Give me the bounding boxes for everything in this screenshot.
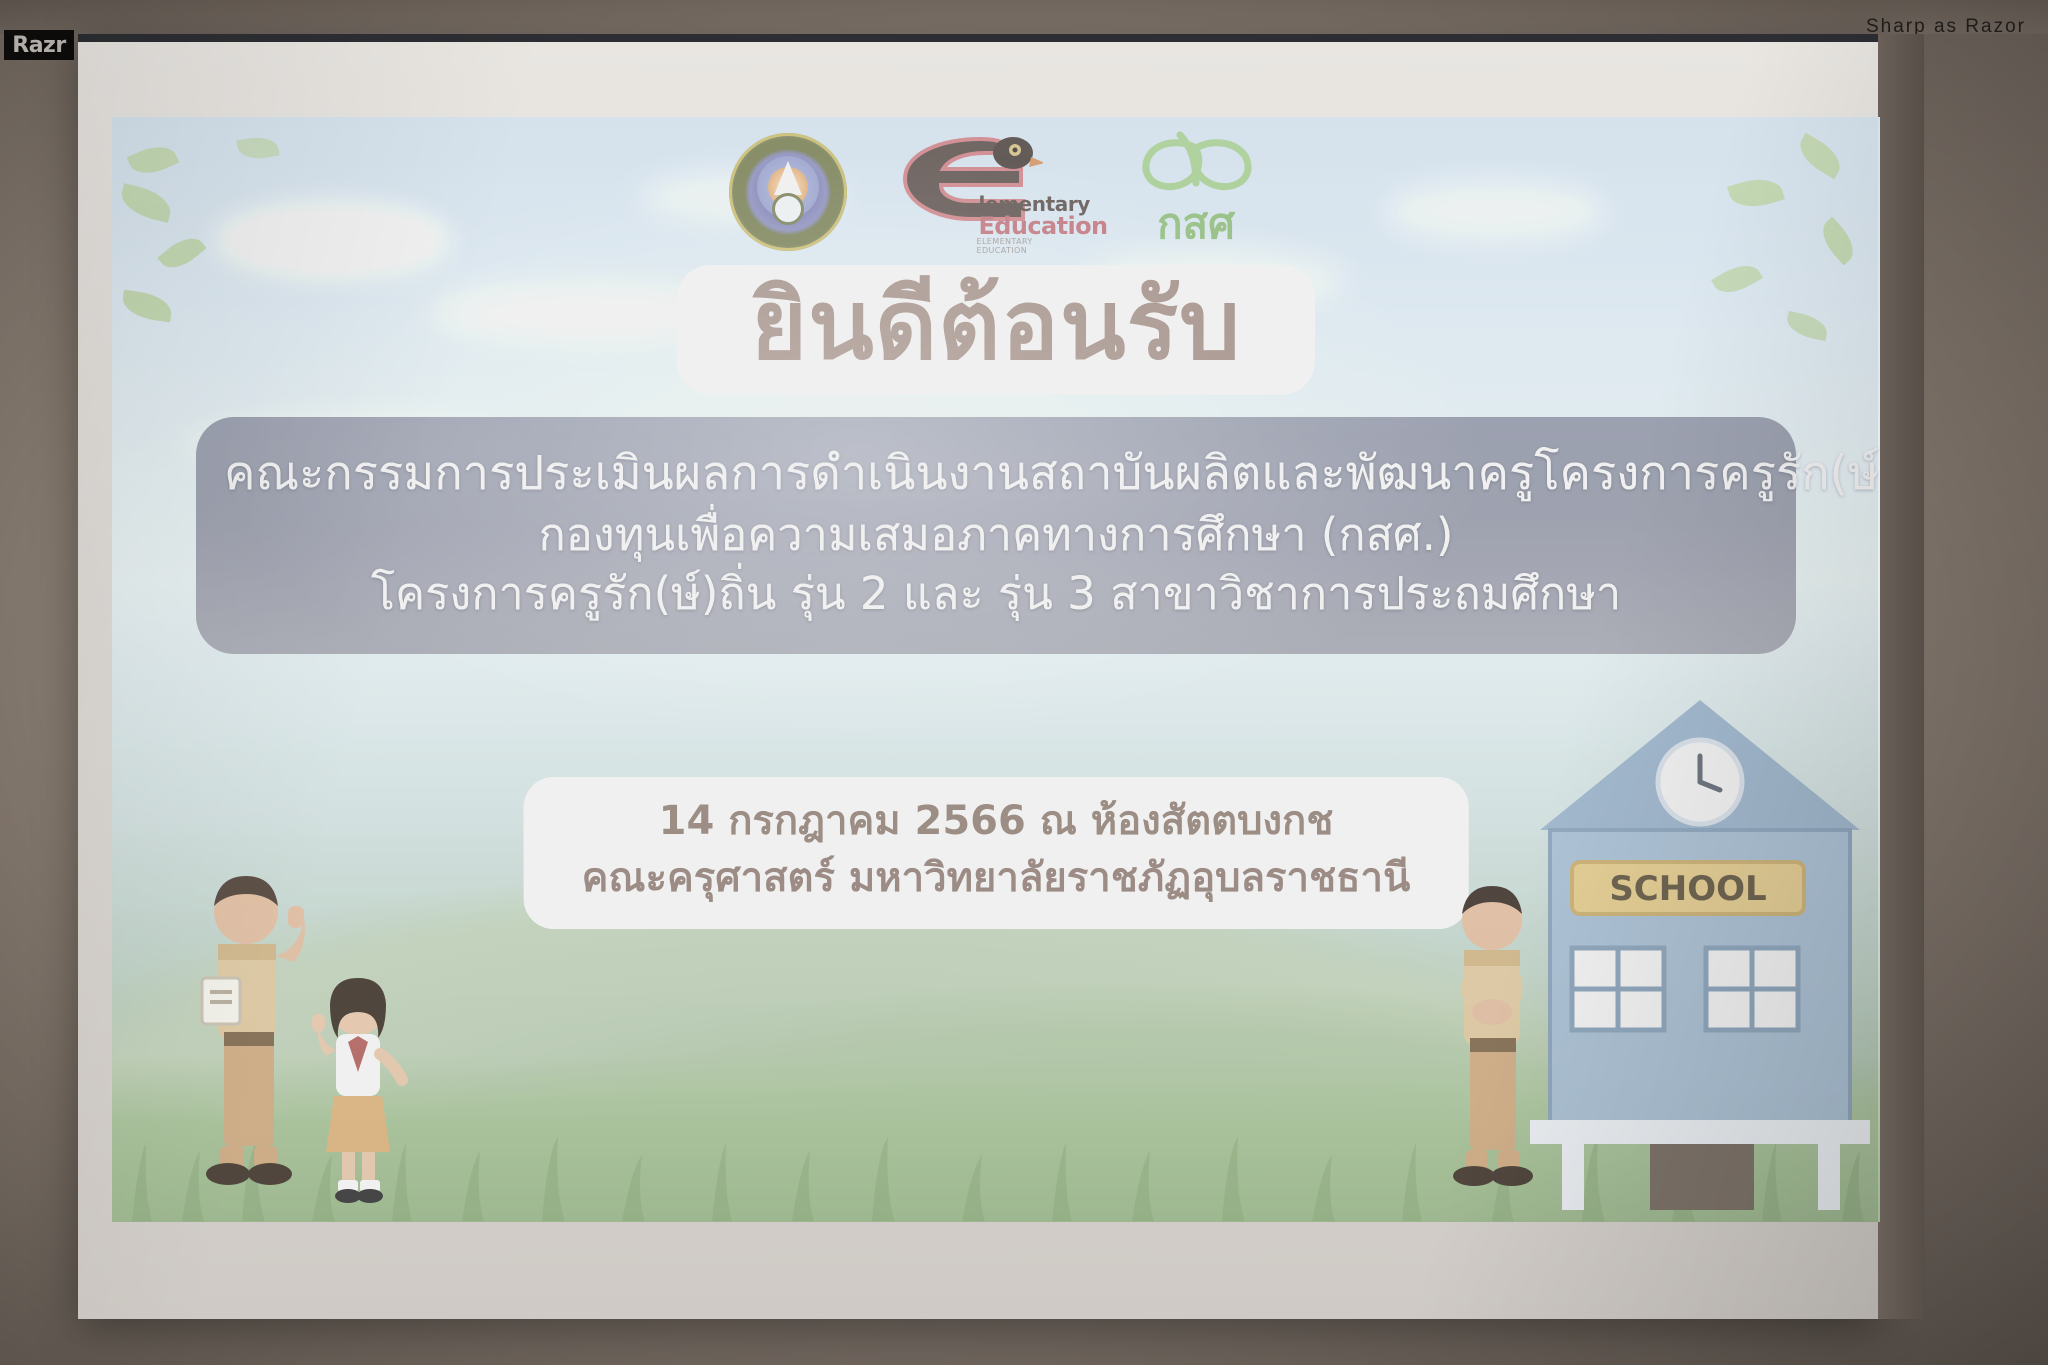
- date-venue-panel: 14 กรกฎาคม 2566 ณ ห้องสัตตบงกช คณะครุศาส…: [524, 777, 1469, 929]
- main-info-panel: คณะกรรมการประเมินผลการดำเนินงานสถาบันผลิ…: [196, 417, 1796, 654]
- welcome-banner: ยินดีต้อนรับ: [677, 265, 1315, 395]
- date-line-2: คณะครุศาสตร์ มหาวิทยาลัยราชภัฏอุบลราชธาน…: [582, 850, 1411, 907]
- education-label: Education: [979, 215, 1108, 238]
- elementary-education-subtitle: ELEMENTARY EDUCATION: [977, 237, 1083, 255]
- main-line-3: โครงการครูรัก(ษ์)ถิ่น รุ่น 2 และ รุ่น 3 …: [224, 564, 1768, 623]
- ubon-ratchathani-rajabhat-university-seal-icon: [729, 133, 847, 251]
- welcome-title: ยินดีต้อนรับ: [751, 275, 1241, 377]
- elementary-education-logo: lementary Education ELEMENTARY EDUCATION: [893, 133, 1083, 251]
- leaf-icon: [120, 290, 173, 323]
- school-sign-text: SCHOOL: [1609, 869, 1766, 909]
- razr-brand-badge: Razr: [4, 30, 74, 60]
- student-girl-illustration: [304, 974, 412, 1204]
- ceiling-shadow: [0, 0, 2048, 34]
- logo-row: lementary Education ELEMENTARY EDUCATION…: [112, 127, 1880, 257]
- teacher-character-right-illustration: [1434, 882, 1550, 1202]
- date-line-1: 14 กรกฎาคม 2566 ณ ห้องสัตตบงกช: [582, 793, 1411, 850]
- main-line-2: กองทุนเพื่อความเสมอภาคทางการศึกษา (กสศ.): [224, 505, 1768, 564]
- leaf-icon: [1711, 257, 1763, 301]
- school-building-illustration: SCHOOL: [1510, 690, 1880, 1210]
- eef-butterfly-leaf-icon: [1136, 131, 1256, 203]
- leaf-icon: [1784, 311, 1830, 341]
- eef-logo: กสศ: [1129, 131, 1264, 253]
- main-line-1: คณะกรรมการประเมินผลการดำเนินงานสถาบันผลิ…: [224, 443, 1768, 505]
- eef-thai-label: กสศ: [1129, 203, 1264, 245]
- screen-right-edge: [1878, 34, 1924, 1319]
- presentation-slide: lementary Education ELEMENTARY EDUCATION…: [112, 117, 1880, 1222]
